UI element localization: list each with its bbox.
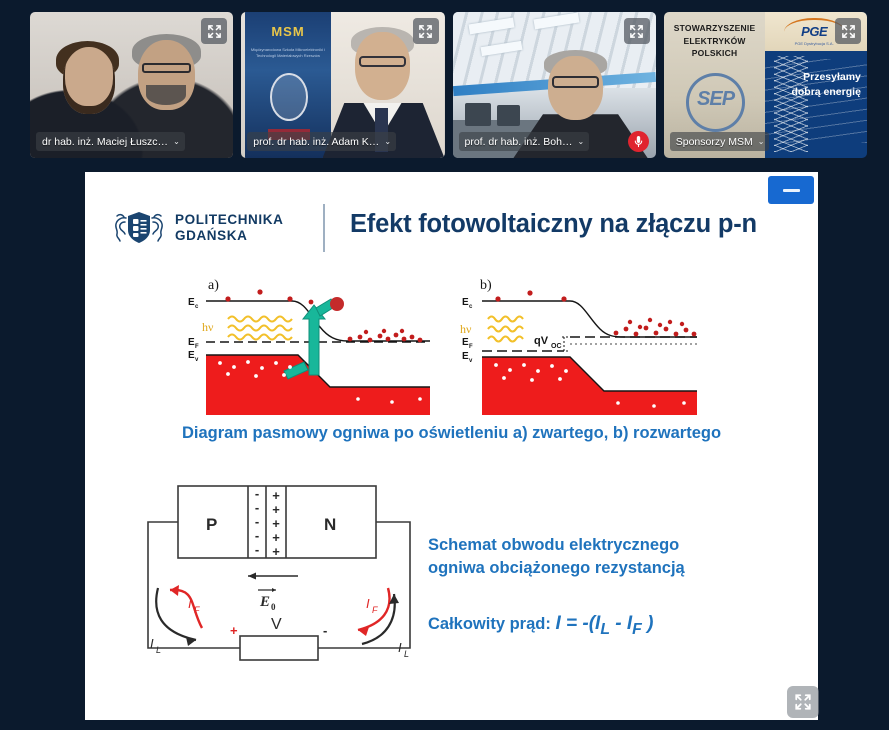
svg-text:qV: qV xyxy=(534,335,549,347)
politechnika-gdanska-logo: POLITECHNIKA GDAŃSKA xyxy=(112,208,283,248)
svg-text:E: E xyxy=(259,594,270,610)
tile-4-sep-mark: SEP xyxy=(686,88,745,111)
svg-text:I: I xyxy=(150,636,154,651)
formula-sub-l: L xyxy=(600,621,610,638)
shared-slide: POLITECHNIKA GDAŃSKA Efekt fotowoltaiczn… xyxy=(85,172,818,720)
circuit-svg: P N --- -- +++ ++ E 0 I F xyxy=(130,472,460,682)
page-title: Efekt fotowoltaiczny na złączu p-n xyxy=(350,210,805,239)
slide-header: POLITECHNIKA GDAŃSKA Efekt fotowoltaiczn… xyxy=(85,202,818,266)
circuit-description: Schemat obwodu elektrycznego ogniwa obci… xyxy=(428,534,808,639)
expand-icon[interactable] xyxy=(835,18,861,44)
tile-1-person-a-face xyxy=(63,47,116,114)
svg-text:b): b) xyxy=(480,278,492,293)
participant-name: Sponsorzy MSM xyxy=(676,136,753,148)
svg-text:E: E xyxy=(462,337,469,348)
video-tile-strip: dr hab. inż. Maciej Łuszc… ⌄ MSM Międzyn… xyxy=(0,0,889,168)
chevron-down-icon[interactable]: ⌄ xyxy=(758,138,765,146)
svg-text:-: - xyxy=(255,500,259,515)
svg-text:c: c xyxy=(195,304,199,310)
tile-2-banner-subtitle: Międzynarodowa Szkoła Mikroelektroniki i… xyxy=(249,47,326,59)
svg-text:+: + xyxy=(272,488,280,503)
pg-logo-line2: GDAŃSKA xyxy=(175,228,283,244)
expand-icon[interactable] xyxy=(201,18,227,44)
svg-text:0: 0 xyxy=(271,602,276,612)
svg-text:+: + xyxy=(230,623,238,638)
description-line-1: Schemat obwodu elektrycznego xyxy=(428,534,808,557)
expand-glyph xyxy=(841,24,856,39)
formula-part-1: I = -(I xyxy=(555,613,600,634)
speaking-indicator-icon xyxy=(628,131,649,152)
svg-text:-: - xyxy=(255,514,259,529)
pg-crest-icon xyxy=(112,208,166,248)
svg-text:E: E xyxy=(188,350,195,361)
svg-text:OC: OC xyxy=(551,343,562,350)
total-current-formula: Całkowity prąd: I = -(IL - IF ) xyxy=(428,613,808,639)
svg-text:hν: hν xyxy=(202,320,214,334)
svg-text:I: I xyxy=(398,640,402,655)
participant-name: prof. dr hab. inż. Adam K… xyxy=(253,136,379,148)
svg-text:-: - xyxy=(255,542,259,557)
chevron-down-icon[interactable]: ⌄ xyxy=(173,138,180,146)
tile-4-pge-slogan: Przesyłamy dobrą energię xyxy=(780,70,861,98)
band-diagram-caption: Diagram pasmowy ogniwa po oświetleniu a)… xyxy=(85,424,818,443)
circuit-figure: P N --- -- +++ ++ E 0 I F xyxy=(130,472,460,682)
tile-2-person-glasses xyxy=(359,56,406,68)
svg-text:E: E xyxy=(188,337,195,348)
svg-text:N: N xyxy=(324,515,336,534)
speaking-glyph xyxy=(633,135,644,148)
expand-glyph xyxy=(418,24,433,39)
svg-text:v: v xyxy=(195,357,199,363)
fullscreen-button[interactable] xyxy=(787,686,819,718)
svg-text:+: + xyxy=(272,516,280,531)
video-tile-1[interactable]: dr hab. inż. Maciej Łuszc… ⌄ xyxy=(30,12,233,158)
svg-text:a): a) xyxy=(208,278,219,293)
tile-1-person-b-glasses xyxy=(142,63,191,73)
svg-text:c: c xyxy=(469,304,473,310)
svg-text:hν: hν xyxy=(460,322,472,336)
formula-prefix: Całkowity prąd: xyxy=(428,615,551,633)
formula-sub-f: F xyxy=(632,621,642,638)
participant-name-bar[interactable]: prof. dr hab. inż. Boh… ⌄ xyxy=(459,132,590,151)
expand-icon[interactable] xyxy=(413,18,439,44)
svg-text:-: - xyxy=(323,623,327,638)
tile-4-sep-title: STOWARZYSZENIE ELEKTRYKÓW POLSKICH xyxy=(668,22,761,59)
expand-icon[interactable] xyxy=(624,18,650,44)
fullscreen-icon xyxy=(794,693,812,711)
participant-name-bar[interactable]: prof. dr hab. inż. Adam K… ⌄ xyxy=(247,132,396,151)
band-diagram-svg: a) E c E F E v hν xyxy=(180,275,710,415)
svg-text:F: F xyxy=(372,605,378,615)
svg-text:L: L xyxy=(156,645,161,655)
svg-text:-: - xyxy=(255,486,259,501)
svg-text:+: + xyxy=(272,502,280,517)
tile-3-person-glasses xyxy=(552,76,599,88)
expand-glyph xyxy=(207,24,222,39)
svg-text:+: + xyxy=(272,530,280,545)
video-tile-3[interactable]: prof. dr hab. inż. Boh… ⌄ xyxy=(453,12,656,158)
chevron-down-icon[interactable]: ⌄ xyxy=(577,138,584,146)
pg-logo-line1: POLITECHNIKA xyxy=(175,212,283,228)
tile-2-banner-title: MSM xyxy=(249,24,326,39)
video-tile-2[interactable]: MSM Międzynarodowa Szkoła Mikroelektroni… xyxy=(241,12,444,158)
header-divider xyxy=(323,204,325,252)
tile-3-monitor xyxy=(497,105,519,125)
participant-name: prof. dr hab. inż. Boh… xyxy=(465,136,573,148)
formula-part-2: - I xyxy=(610,613,632,634)
svg-text:L: L xyxy=(404,649,409,659)
svg-text:E: E xyxy=(188,297,195,308)
video-tile-4[interactable]: STOWARZYSZENIE ELEKTRYKÓW POLSKICH SEP P… xyxy=(664,12,867,158)
description-line-2: ogniwa obciążonego rezystancją xyxy=(428,557,808,580)
pg-logo-text: POLITECHNIKA GDAŃSKA xyxy=(175,212,283,244)
svg-text:V: V xyxy=(271,616,282,633)
tile-3-person-face xyxy=(548,56,603,120)
svg-text:+: + xyxy=(272,544,280,559)
svg-text:v: v xyxy=(469,358,473,364)
tile-3-monitor xyxy=(465,103,491,126)
svg-text:I: I xyxy=(366,596,370,611)
participant-name-bar[interactable]: dr hab. inż. Maciej Łuszc… ⌄ xyxy=(36,132,185,151)
svg-text:I: I xyxy=(188,596,192,611)
svg-text:P: P xyxy=(206,515,217,534)
svg-text:F: F xyxy=(195,344,199,350)
minimize-icon xyxy=(783,189,800,192)
svg-text:E: E xyxy=(462,351,469,362)
participant-name: dr hab. inż. Maciej Łuszc… xyxy=(42,136,168,148)
svg-text:E: E xyxy=(462,297,469,308)
svg-text:F: F xyxy=(194,605,200,615)
formula-body: I = -(IL - IF ) xyxy=(555,613,653,634)
svg-text:-: - xyxy=(255,528,259,543)
band-diagram-figure: a) E c E F E v hν xyxy=(180,275,710,415)
formula-part-3: ) xyxy=(642,613,654,634)
expand-glyph xyxy=(629,24,644,39)
participant-name-bar[interactable]: Sponsorzy MSM ⌄ xyxy=(670,132,770,151)
svg-text:F: F xyxy=(469,344,473,350)
chevron-down-icon[interactable]: ⌄ xyxy=(384,138,391,146)
minimize-button[interactable] xyxy=(768,176,814,204)
